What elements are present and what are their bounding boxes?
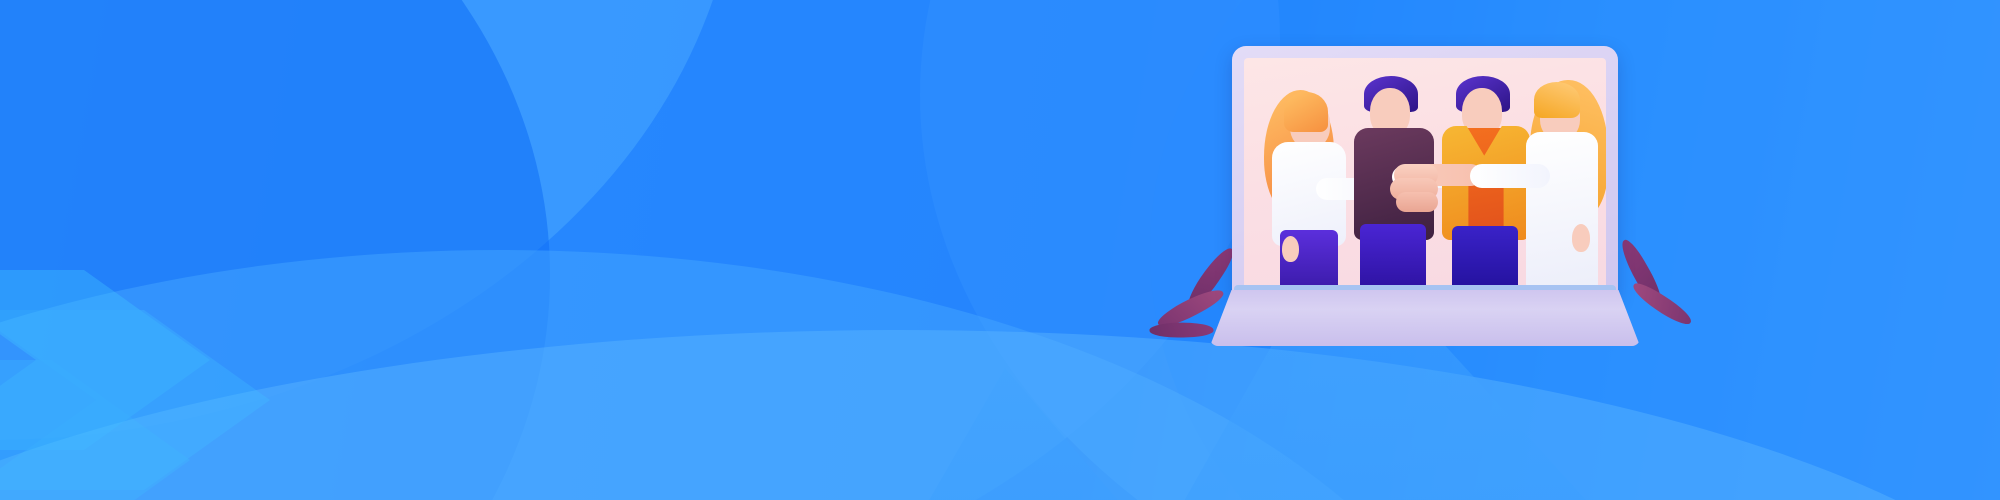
person-woman-right <box>1522 76 1606 290</box>
laptop-screen <box>1244 58 1606 290</box>
hand-resting <box>1572 224 1590 252</box>
leaf-left-3 <box>1149 321 1213 338</box>
hair-front <box>1284 92 1328 132</box>
grid-top-right <box>1820 0 2000 120</box>
legs <box>1452 226 1518 290</box>
teamwork-laptop-illustration <box>1210 46 1640 346</box>
hand-resting <box>1282 236 1299 262</box>
laptop-keyboard-base <box>1210 290 1640 346</box>
torso-dress <box>1526 132 1598 290</box>
hair-front <box>1534 82 1580 118</box>
arm-extended <box>1470 164 1550 188</box>
leaf-right-2 <box>1629 279 1695 329</box>
laptop-lid <box>1232 46 1618 298</box>
stacked-hand-3 <box>1396 192 1438 212</box>
promotional-banner <box>0 0 2000 500</box>
person-woman-left <box>1260 84 1356 290</box>
banner-copy <box>248 96 264 118</box>
legs <box>1360 224 1426 290</box>
background-chevron-stripes <box>0 270 430 500</box>
